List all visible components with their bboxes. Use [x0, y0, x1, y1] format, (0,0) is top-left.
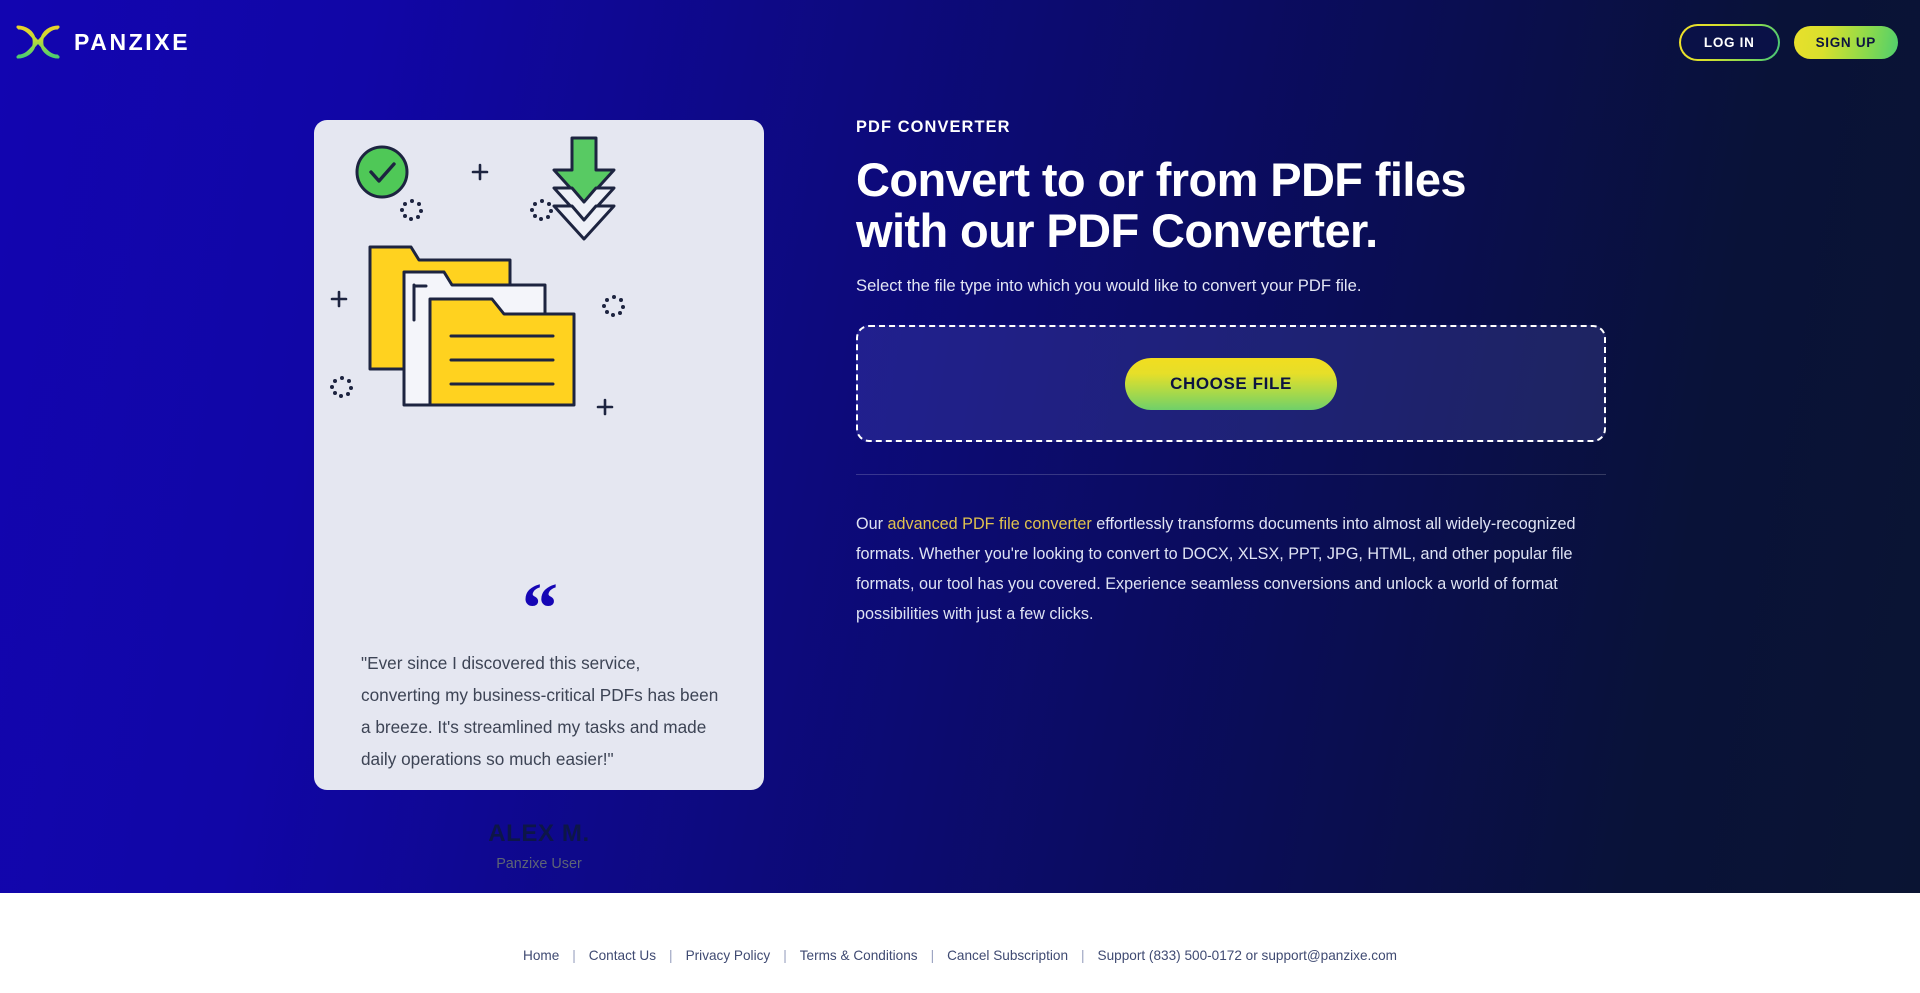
converter-panel: PDF CONVERTER Convert to or from PDF fil… — [856, 118, 1606, 629]
stacked-folders-icon — [370, 247, 574, 405]
footer-link-privacy-policy[interactable]: Privacy Policy — [686, 948, 771, 963]
quote-mark-icon: “ — [522, 572, 556, 644]
panzixe-x-logo-icon — [14, 18, 62, 66]
footer-link-cancel-subscription[interactable]: Cancel Subscription — [947, 948, 1068, 963]
testimonial-card: “ "Ever since I discovered this service,… — [314, 120, 764, 790]
page-title-line-2: with our PDF Converter. — [856, 204, 1378, 257]
footer-link-terms-conditions[interactable]: Terms & Conditions — [800, 948, 918, 963]
footer-links: Home | Contact Us | Privacy Policy | Ter… — [523, 948, 1397, 963]
footer-support-text: Support (833) 500-0172 or support@panzix… — [1098, 948, 1397, 963]
testimonial-author-role: Panzixe User — [314, 856, 764, 872]
green-download-arrow-icon — [554, 138, 614, 239]
page-title-line-1: Convert to or from PDF files — [856, 153, 1466, 206]
page-subtitle: Select the file type into which you woul… — [856, 274, 1606, 298]
footer-separator: | — [918, 948, 948, 963]
green-check-circle-icon — [357, 147, 407, 197]
testimonial-quote: "Ever since I discovered this service, c… — [361, 647, 721, 775]
signup-button[interactable]: SIGN UP — [1794, 26, 1898, 59]
auth-buttons: LOG IN SIGN UP — [1681, 26, 1898, 59]
section-divider — [856, 474, 1606, 475]
description-prefix: Our — [856, 515, 887, 533]
file-dropzone[interactable]: CHOOSE FILE — [856, 325, 1606, 442]
description-paragraph: Our advanced PDF file converter effortle… — [856, 509, 1604, 629]
brand-name: PANZIXE — [74, 29, 190, 56]
site-header: PANZIXE LOG IN SIGN UP — [0, 0, 1920, 93]
testimonial-author: ALEX M. — [314, 820, 764, 848]
footer-separator: | — [770, 948, 800, 963]
folders-illustration — [314, 120, 764, 450]
footer-link-contact-us[interactable]: Contact Us — [589, 948, 656, 963]
hero-section: PANZIXE LOG IN SIGN UP — [0, 0, 1920, 893]
footer-separator: | — [656, 948, 686, 963]
advanced-converter-link[interactable]: advanced PDF file converter — [887, 515, 1091, 533]
footer-separator: | — [1068, 948, 1098, 963]
brand-logo-link[interactable]: PANZIXE — [14, 18, 190, 66]
choose-file-button[interactable]: CHOOSE FILE — [1125, 358, 1337, 410]
site-footer: Home | Contact Us | Privacy Policy | Ter… — [0, 893, 1920, 993]
footer-link-home[interactable]: Home — [523, 948, 559, 963]
page-title: Convert to or from PDF files with our PD… — [856, 154, 1606, 256]
section-eyebrow: PDF CONVERTER — [856, 118, 1606, 137]
login-button[interactable]: LOG IN — [1681, 26, 1778, 59]
footer-separator: | — [559, 948, 589, 963]
page-root: PANZIXE LOG IN SIGN UP — [0, 0, 1920, 993]
